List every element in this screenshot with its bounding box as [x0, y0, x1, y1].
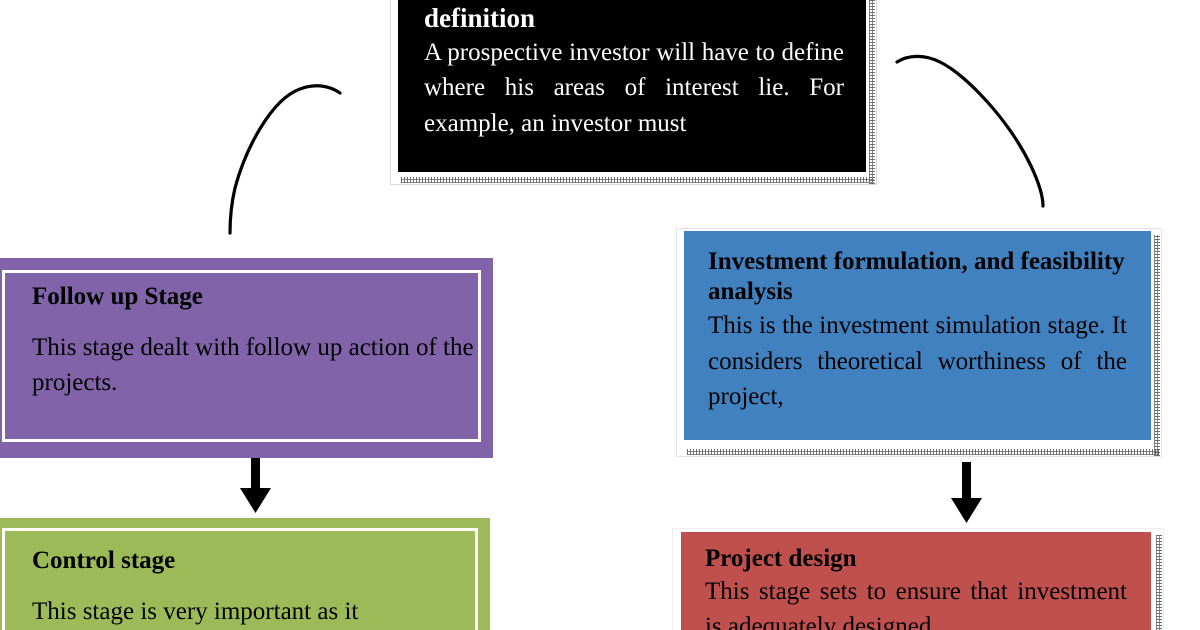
connector-followup-to-control-icon: [240, 452, 271, 513]
connector-formulation-to-design-icon: [951, 462, 982, 523]
connector-definition-to-followup-icon: [230, 86, 340, 233]
definition-node-title: definition: [398, 0, 866, 35]
connector-definition-to-formulation-icon: [897, 56, 1043, 206]
definition-node-text: A prospective investor will have to defi…: [398, 35, 866, 142]
project-design-node-text: This stage sets to ensure that investmen…: [681, 574, 1151, 630]
investment-formulation-node-body-area: Investment formulation, and feasibility …: [684, 231, 1151, 440]
control-stage-node[interactable]: Control stage This stage is very importa…: [0, 518, 490, 630]
project-design-node-title: Project design: [681, 532, 1151, 574]
follow-up-stage-node-frame: [2, 270, 481, 442]
definition-node-shadow: [401, 177, 874, 183]
investment-formulation-node-shadow-right: [1154, 235, 1160, 456]
investment-formulation-node[interactable]: Investment formulation, and feasibility …: [676, 228, 1162, 457]
investment-formulation-node-title: Investment formulation, and feasibility …: [684, 231, 1151, 306]
project-design-node[interactable]: Project design This stage sets to ensure…: [672, 528, 1164, 630]
control-stage-node-frame: [2, 528, 478, 630]
investment-formulation-node-text: This is the investment simulation stage.…: [684, 306, 1151, 415]
follow-up-stage-node[interactable]: Follow up Stage This stage dealt with fo…: [0, 258, 493, 458]
investment-formulation-node-shadow: [687, 449, 1159, 455]
diagram-canvas: definition A prospective investor will h…: [0, 0, 1200, 630]
definition-node-body-area: definition A prospective investor will h…: [398, 0, 866, 172]
definition-node-shadow-right: [869, 0, 875, 184]
project-design-node-shadow-right: [1156, 535, 1162, 630]
project-design-node-body-area: Project design This stage sets to ensure…: [681, 532, 1151, 630]
definition-node[interactable]: definition A prospective investor will h…: [390, 0, 877, 185]
